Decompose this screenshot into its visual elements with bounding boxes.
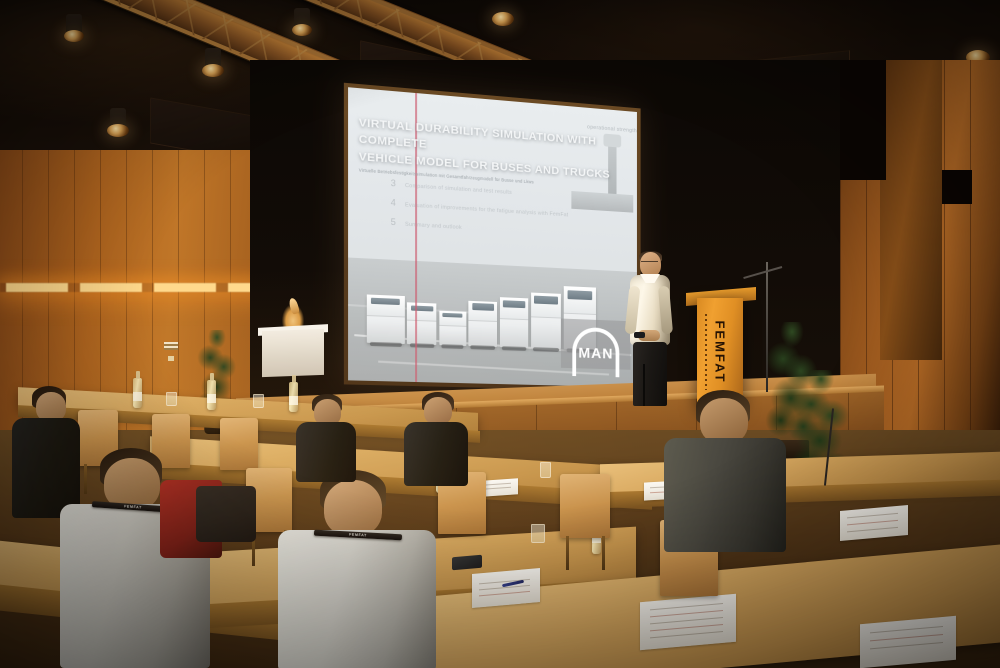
dark-bag bbox=[196, 486, 256, 542]
drinking-glass[interactable] bbox=[531, 524, 545, 543]
audience-person: FEMFAT bbox=[278, 470, 438, 668]
chair[interactable] bbox=[560, 474, 610, 538]
vehicle-window bbox=[568, 290, 593, 300]
agenda-number: 5 bbox=[391, 217, 405, 228]
spotlight bbox=[292, 24, 312, 36]
drinking-glass[interactable] bbox=[540, 462, 551, 478]
vehicle-cab bbox=[407, 302, 436, 321]
man-logo-text: MAN bbox=[578, 344, 613, 362]
cove-led-segment bbox=[80, 283, 142, 292]
lectern-brand-text: FEMFAT bbox=[713, 320, 728, 383]
audience-person bbox=[664, 390, 788, 550]
handout-paper[interactable] bbox=[640, 594, 736, 650]
drinking-glass[interactable] bbox=[253, 394, 264, 408]
vehicle-bus bbox=[366, 294, 404, 344]
presenter-leg-split bbox=[643, 364, 645, 406]
agenda-number: 4 bbox=[391, 197, 405, 208]
agenda-item: 5 Summary and outlook bbox=[391, 217, 632, 241]
vehicle-cab bbox=[531, 292, 562, 318]
person-head bbox=[324, 480, 382, 536]
vehicle-truck bbox=[439, 310, 465, 346]
person-body bbox=[664, 438, 786, 552]
cove-led-segment bbox=[6, 283, 68, 292]
handout-paper[interactable] bbox=[860, 616, 956, 668]
presenter bbox=[626, 252, 672, 406]
wall-switch[interactable] bbox=[168, 356, 174, 361]
cove-led-segment bbox=[154, 283, 216, 292]
vehicle-window bbox=[503, 300, 525, 308]
vehicle-cab bbox=[366, 294, 404, 317]
conference-hall-scene: VIRTUAL DURABILITY SIMULATION WITH COMPL… bbox=[0, 0, 1000, 668]
vehicle-cab bbox=[564, 287, 597, 316]
chair-leg bbox=[602, 536, 605, 570]
person-body bbox=[278, 530, 436, 668]
wall-recess bbox=[942, 170, 972, 204]
person-head bbox=[424, 397, 452, 425]
side-table-with-cloth bbox=[262, 329, 324, 377]
badge-text: FEMFAT bbox=[124, 504, 142, 509]
spotlight bbox=[492, 12, 514, 26]
agenda-text: Summary and outlook bbox=[405, 222, 462, 231]
lectern-perforation bbox=[705, 314, 707, 390]
spotlight bbox=[202, 64, 224, 77]
vehicle-cab bbox=[500, 297, 528, 320]
vehicle-window bbox=[534, 296, 557, 305]
wall-column-right bbox=[880, 60, 942, 360]
chair[interactable] bbox=[220, 418, 258, 470]
agenda-text: Evaluation of improvements for the fatig… bbox=[405, 202, 568, 218]
vehicle-cab bbox=[439, 310, 465, 326]
projection-screen-frame: VIRTUAL DURABILITY SIMULATION WITH COMPL… bbox=[344, 83, 641, 392]
man-logo: MAN bbox=[561, 319, 631, 370]
person-body bbox=[296, 422, 356, 482]
projection-screen: VIRTUAL DURABILITY SIMULATION WITH COMPL… bbox=[348, 87, 637, 387]
presenter-remote bbox=[634, 332, 645, 338]
vehicle-truck bbox=[407, 302, 436, 345]
chair-leg bbox=[566, 536, 569, 570]
vehicle-truck bbox=[500, 297, 528, 348]
badge-text: FEMFAT bbox=[349, 533, 367, 538]
glasses-icon bbox=[641, 261, 658, 265]
handout-paper[interactable] bbox=[840, 505, 908, 541]
person-body bbox=[404, 422, 468, 486]
spotlight bbox=[64, 30, 84, 42]
vehicle-window bbox=[443, 312, 463, 318]
water-bottle[interactable] bbox=[207, 380, 216, 410]
water-bottle[interactable] bbox=[133, 378, 142, 408]
wall-sign bbox=[164, 342, 178, 350]
vehicle-cab bbox=[469, 300, 498, 321]
vehicle-truck bbox=[531, 292, 562, 349]
spotlight bbox=[107, 124, 129, 137]
presenter-legs bbox=[633, 342, 667, 406]
agenda-number: 3 bbox=[391, 178, 405, 189]
drinking-glass[interactable] bbox=[166, 392, 177, 406]
audience-person bbox=[404, 392, 470, 484]
vehicle-truck bbox=[469, 300, 498, 347]
audience-person bbox=[296, 394, 358, 478]
handout-notepad[interactable] bbox=[472, 568, 540, 608]
agenda-text: Comparison of simulation and test result… bbox=[405, 183, 512, 196]
vehicle-window bbox=[371, 297, 400, 305]
vehicle-window bbox=[472, 303, 494, 310]
smartphone[interactable] bbox=[452, 555, 482, 571]
